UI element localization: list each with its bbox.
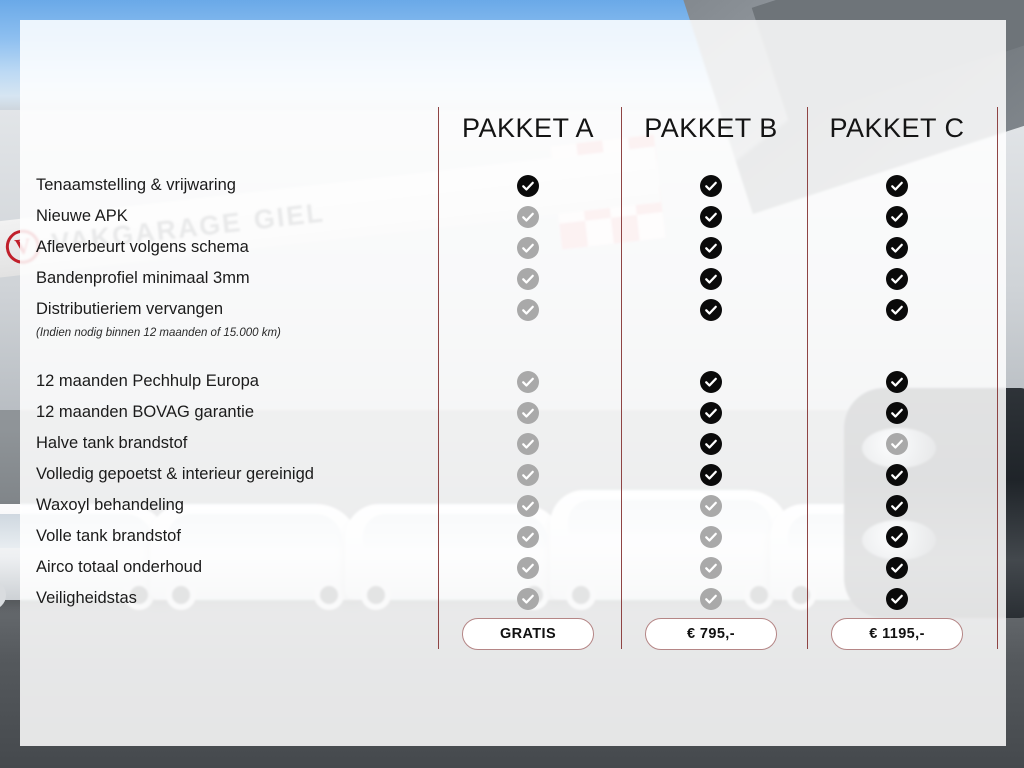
feature-label: Halve tank brandstof xyxy=(36,428,436,459)
feature-availability-cell xyxy=(621,201,801,232)
feature-availability-cell xyxy=(621,490,801,521)
feature-availability-cell xyxy=(438,583,618,614)
feature-label: Waxoyl behandeling xyxy=(36,490,436,521)
feature-availability-cell xyxy=(438,428,618,459)
feature-availability-cell xyxy=(438,170,618,201)
column-header-pakket-b: PAKKET B xyxy=(621,113,801,144)
feature-label-list: Tenaamstelling & vrijwaringNieuwe APKAfl… xyxy=(36,170,436,614)
check-excluded-icon xyxy=(517,588,539,610)
check-excluded-icon xyxy=(517,464,539,486)
feature-availability-cell xyxy=(807,490,987,521)
feature-availability-cell xyxy=(621,263,801,294)
feature-label: Distributieriem vervangen xyxy=(36,294,436,325)
feature-note-spacer xyxy=(621,325,801,347)
feature-availability-cell xyxy=(807,366,987,397)
feature-availability-cell xyxy=(807,521,987,552)
check-included-icon xyxy=(886,464,908,486)
price-badge-pakket-b[interactable]: € 795,- xyxy=(645,618,777,650)
feature-availability-cell xyxy=(438,232,618,263)
check-excluded-icon xyxy=(517,495,539,517)
feature-availability-cell xyxy=(621,428,801,459)
check-excluded-icon xyxy=(700,588,722,610)
check-excluded-icon xyxy=(517,206,539,228)
feature-availability-cell xyxy=(438,521,618,552)
check-excluded-icon xyxy=(517,268,539,290)
check-included-icon xyxy=(886,495,908,517)
check-excluded-icon xyxy=(517,371,539,393)
check-included-icon xyxy=(700,371,722,393)
check-included-icon xyxy=(886,237,908,259)
feature-availability-cell xyxy=(438,263,618,294)
check-included-icon xyxy=(886,557,908,579)
check-included-icon xyxy=(886,526,908,548)
group-spacer xyxy=(438,347,618,366)
feature-availability-cell xyxy=(807,552,987,583)
feature-note-spacer xyxy=(807,325,987,347)
check-included-icon xyxy=(700,299,722,321)
feature-label: Nieuwe APK xyxy=(36,201,436,232)
group-spacer xyxy=(621,347,801,366)
feature-availability-cell xyxy=(807,583,987,614)
column-divider xyxy=(997,107,998,649)
feature-availability-cell xyxy=(807,459,987,490)
column-header-pakket-a: PAKKET A xyxy=(438,113,618,144)
feature-availability-cell xyxy=(438,366,618,397)
feature-availability-cell xyxy=(807,294,987,325)
price-badge-pakket-c[interactable]: € 1195,- xyxy=(831,618,963,650)
check-excluded-icon xyxy=(517,557,539,579)
feature-availability-cell xyxy=(807,428,987,459)
feature-availability-cell xyxy=(438,490,618,521)
feature-availability-cell xyxy=(807,397,987,428)
feature-availability-cell xyxy=(807,263,987,294)
feature-label: Tenaamstelling & vrijwaring xyxy=(36,170,436,201)
check-excluded-icon xyxy=(517,433,539,455)
feature-label: Volledig gepoetst & interieur gereinigd xyxy=(36,459,436,490)
check-excluded-icon xyxy=(517,237,539,259)
group-spacer xyxy=(807,347,987,366)
check-included-icon xyxy=(700,175,722,197)
check-excluded-icon xyxy=(886,433,908,455)
feature-availability-cell xyxy=(807,170,987,201)
check-included-icon xyxy=(700,464,722,486)
feature-label: Afleverbeurt volgens schema xyxy=(36,232,436,263)
check-included-icon xyxy=(886,371,908,393)
check-included-icon xyxy=(886,402,908,424)
package-comparison-table: PAKKET A PAKKET B PAKKET C Tenaamstellin… xyxy=(0,0,1024,768)
check-included-icon xyxy=(886,206,908,228)
feature-availability-cell xyxy=(621,552,801,583)
column-header-pakket-c: PAKKET C xyxy=(807,113,987,144)
feature-availability-cell xyxy=(807,201,987,232)
check-excluded-icon xyxy=(517,402,539,424)
feature-label: 12 maanden Pechhulp Europa xyxy=(36,366,436,397)
check-included-icon xyxy=(517,175,539,197)
feature-label: Veiligheidstas xyxy=(36,583,436,614)
feature-availability-cell xyxy=(438,552,618,583)
feature-label: Volle tank brandstof xyxy=(36,521,436,552)
check-excluded-icon xyxy=(517,526,539,548)
check-excluded-icon xyxy=(700,557,722,579)
feature-availability-cell xyxy=(621,170,801,201)
feature-availability-cell xyxy=(438,294,618,325)
feature-label: 12 maanden BOVAG garantie xyxy=(36,397,436,428)
check-included-icon xyxy=(700,433,722,455)
feature-availability-cell xyxy=(621,397,801,428)
check-included-icon xyxy=(700,237,722,259)
check-included-icon xyxy=(700,402,722,424)
feature-availability-cell xyxy=(438,459,618,490)
feature-availability-cell xyxy=(621,232,801,263)
feature-note-spacer xyxy=(438,325,618,347)
check-included-icon xyxy=(886,588,908,610)
check-excluded-icon xyxy=(700,495,722,517)
check-column-pakket-b xyxy=(621,170,801,614)
check-included-icon xyxy=(700,268,722,290)
feature-availability-cell xyxy=(621,366,801,397)
check-excluded-icon xyxy=(517,299,539,321)
check-included-icon xyxy=(886,268,908,290)
feature-note: (Indien nodig binnen 12 maanden of 15.00… xyxy=(36,325,436,347)
check-excluded-icon xyxy=(700,526,722,548)
check-included-icon xyxy=(700,206,722,228)
feature-availability-cell xyxy=(621,294,801,325)
feature-availability-cell xyxy=(621,521,801,552)
check-included-icon xyxy=(886,175,908,197)
feature-availability-cell xyxy=(438,397,618,428)
group-spacer xyxy=(36,347,436,366)
feature-availability-cell xyxy=(621,459,801,490)
feature-availability-cell xyxy=(621,583,801,614)
price-badge-pakket-a[interactable]: GRATIS xyxy=(462,618,594,650)
check-column-pakket-c xyxy=(807,170,987,614)
feature-availability-cell xyxy=(807,232,987,263)
check-included-icon xyxy=(886,299,908,321)
feature-label: Bandenprofiel minimaal 3mm xyxy=(36,263,436,294)
feature-availability-cell xyxy=(438,201,618,232)
feature-label: Airco totaal onderhoud xyxy=(36,552,436,583)
check-column-pakket-a xyxy=(438,170,618,614)
